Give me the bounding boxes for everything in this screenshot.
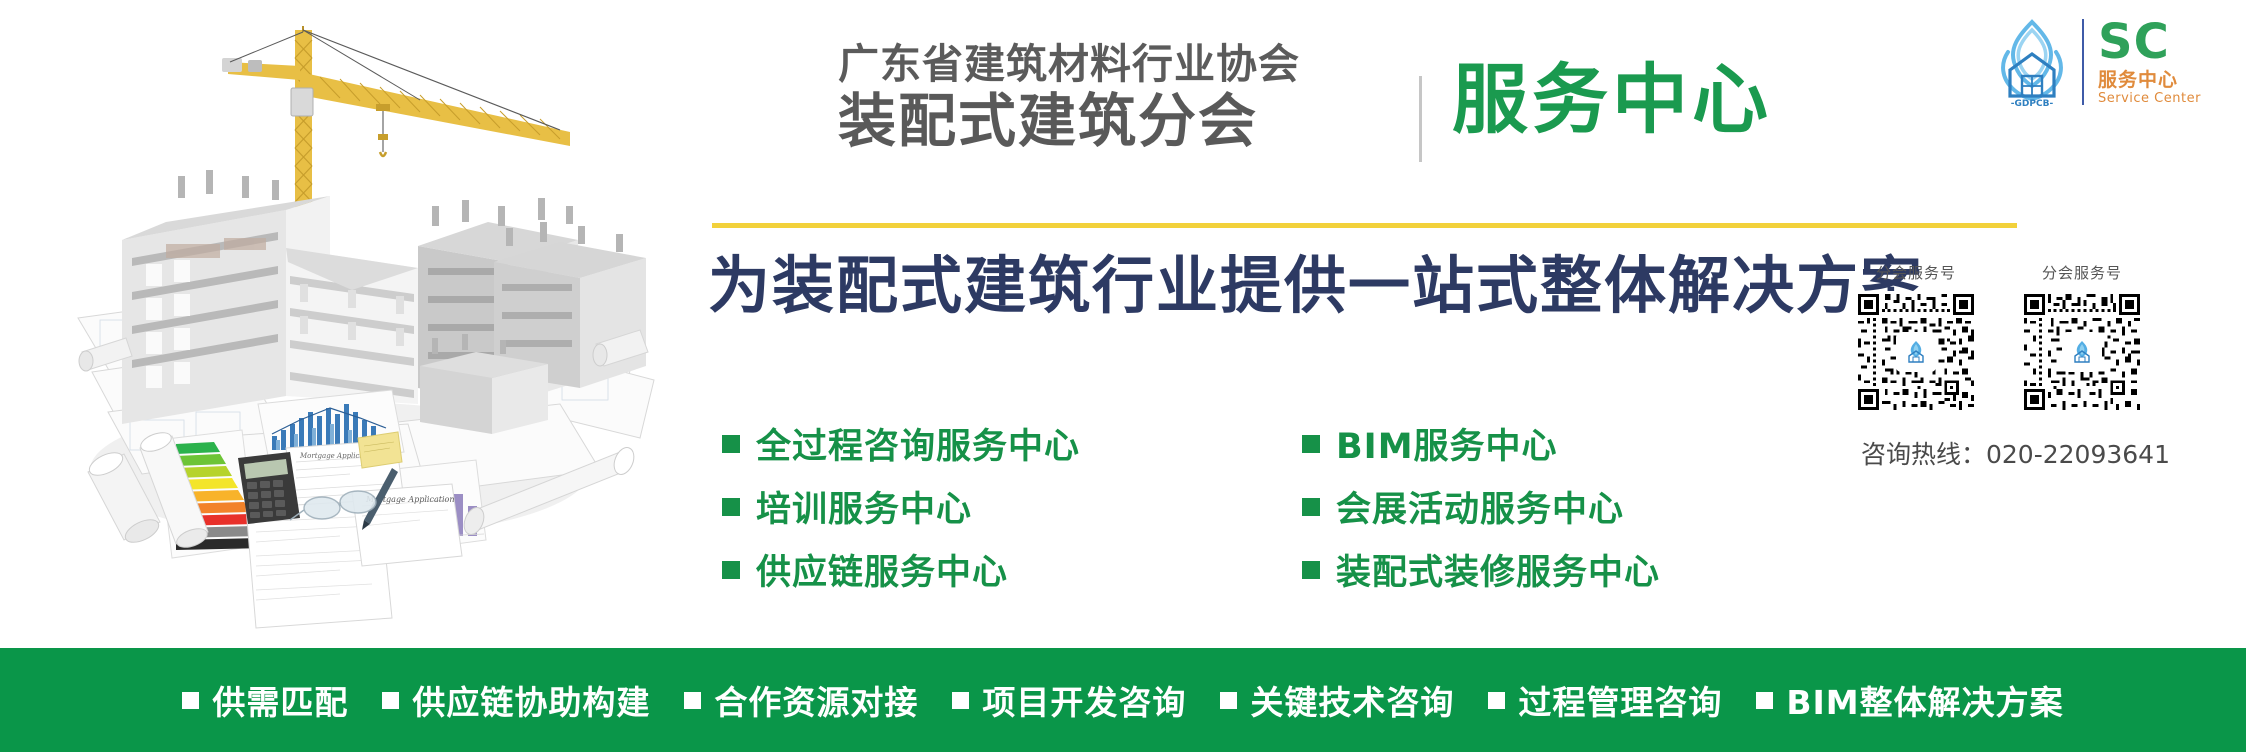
bar-item-label: 项目开发咨询 [982,676,1186,724]
qr-caption: 分会服务号 [2021,262,2143,283]
service-label: 会展活动服务中心 [1336,481,1624,532]
square-bullet-icon [1220,692,1237,709]
bar-item[interactable]: 过程管理咨询 [1488,676,1722,724]
bottom-service-bar: 供需匹配 供应链协助构建 合作资源对接 项目开发咨询 关键技术咨询 过程管理咨询… [0,648,2246,752]
square-bullet-icon [952,692,969,709]
list-item[interactable]: 全过程咨询服务中心 [722,418,1302,469]
square-bullet-icon [1756,692,1773,709]
list-item[interactable]: 装配式装修服务中心 [1302,544,1802,595]
qr-center-logo-icon [2062,332,2102,372]
banner-root: Mortgage Application Mortgage Applicatio… [0,0,2246,752]
square-bullet-icon [1488,692,1505,709]
square-bullet-icon [722,498,740,516]
bar-item[interactable]: BIM整体解决方案 [1756,676,2063,724]
service-label: 装配式装修服务中心 [1336,544,1660,595]
service-center-title: 服务中心 [1452,58,1772,142]
list-item[interactable]: 供应链服务中心 [722,544,1302,595]
square-bullet-icon [382,692,399,709]
calculator [238,452,300,524]
hotline-text: 咨询热线：020-22093641 [1861,435,2211,471]
list-item[interactable]: BIM服务中心 [1302,418,1802,469]
construction-render-image: Mortgage Application Mortgage Applicatio… [0,0,660,645]
qr-code-image-2[interactable] [2021,291,2143,413]
bar-item[interactable]: 项目开发咨询 [952,676,1186,724]
square-bullet-icon [1302,435,1320,453]
service-label: 全过程咨询服务中心 [756,418,1080,469]
association-name-line1: 广东省建筑材料行业协会 [838,42,1410,86]
bar-item[interactable]: 合作资源对接 [684,676,918,724]
service-label: 供应链服务中心 [756,544,1008,595]
bar-item[interactable]: 供需匹配 [182,676,348,724]
square-bullet-icon [1302,561,1320,579]
service-label: 培训服务中心 [756,481,972,532]
association-name-line2: 装配式建筑分会 [838,90,1410,152]
qr-code-block-2: 分会服务号 [2021,262,2143,413]
page-headline: 为装配式建筑行业提供一站式整体解决方案 [708,250,1924,322]
brand-logo-area: -GDPCB- SC 服务中心 Service Center [1988,14,2238,110]
logo-mark-wordmark: -GDPCB- [2011,99,2054,108]
qr-code-block-1: 分会服务号 [1855,262,1977,413]
bar-item-label: 关键技术咨询 [1250,676,1454,724]
gdpcb-logo-icon: -GDPCB- [1988,16,2076,108]
bar-item[interactable]: 供应链协助构建 [382,676,650,724]
square-bullet-icon [722,561,740,579]
yellow-divider-rule [712,223,2017,228]
logo-text-block: SC 服务中心 Service Center [2098,18,2201,107]
header-vertical-divider [1419,76,1422,162]
qr-code-panel: 分会服务号 [1855,262,2211,471]
bar-item-label: 过程管理咨询 [1518,676,1722,724]
bar-item-label: BIM整体解决方案 [1786,676,2063,724]
service-label: BIM服务中心 [1336,418,1558,469]
qr-caption: 分会服务号 [1855,262,1977,283]
logo-chinese-text: 服务中心 [2098,69,2201,91]
square-bullet-icon [722,435,740,453]
logo-english-text: Service Center [2098,91,2201,107]
logo-sc-text: SC [2098,18,2201,66]
association-title-block: 广东省建筑材料行业协会 装配式建筑分会 [838,42,1410,152]
list-item[interactable]: 培训服务中心 [722,481,1302,532]
list-item[interactable]: 会展活动服务中心 [1302,481,1802,532]
bar-item-label: 合作资源对接 [714,676,918,724]
qr-code-image-1[interactable] [1855,291,1977,413]
logo-vertical-divider [2082,19,2084,105]
square-bullet-icon [684,692,701,709]
square-bullet-icon [182,692,199,709]
bar-item-label: 供需匹配 [212,676,348,724]
bar-item[interactable]: 关键技术咨询 [1220,676,1454,724]
square-bullet-icon [1302,498,1320,516]
sticky-note [358,432,402,468]
bar-item-label: 供应链协助构建 [412,676,650,724]
qr-code-row: 分会服务号 [1855,262,2211,413]
service-center-list: 全过程咨询服务中心 BIM服务中心 培训服务中心 会展活动服务中心 供应链服务中… [722,412,1802,601]
qr-center-logo-icon [1896,332,1936,372]
